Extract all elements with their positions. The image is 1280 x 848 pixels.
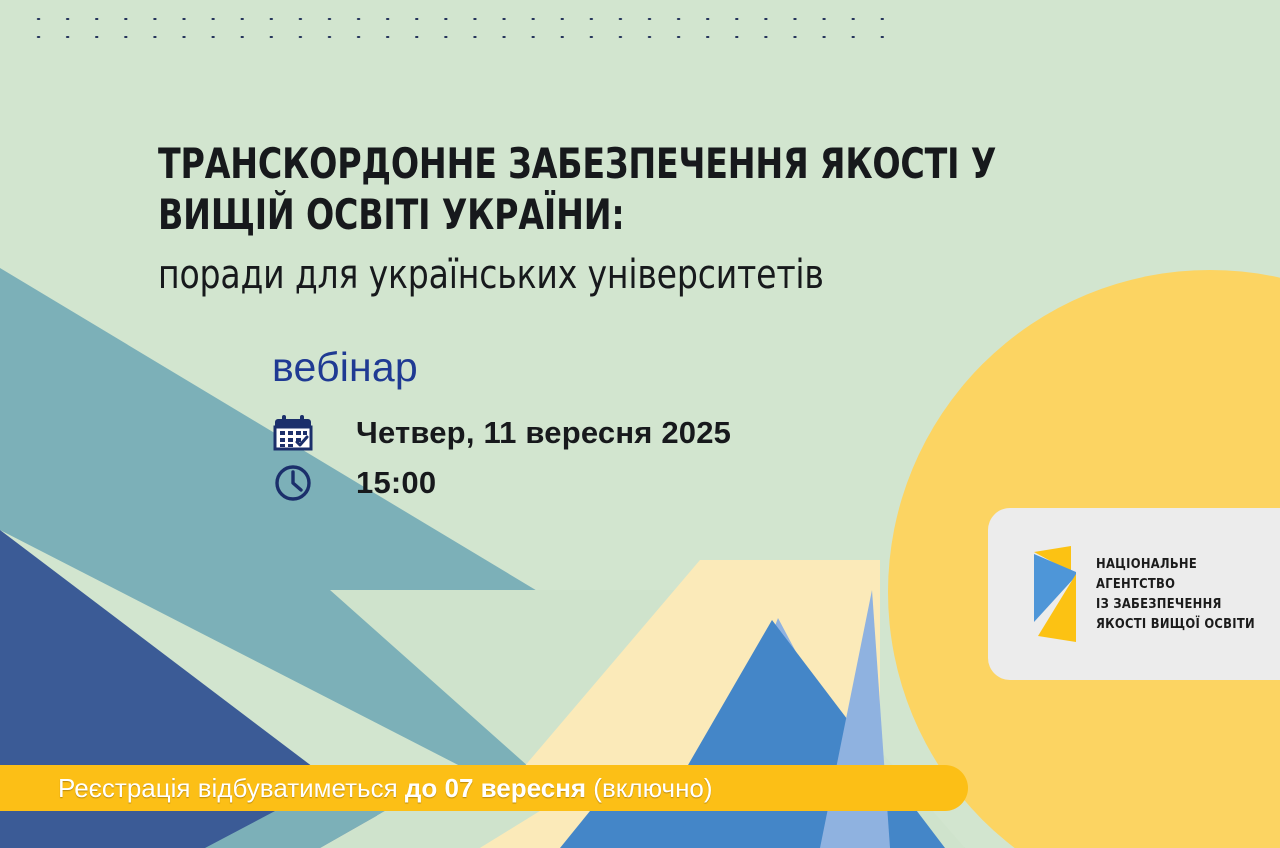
calendar-icon [272, 410, 318, 456]
registration-prefix: Реєстрація відбуватиметься [58, 773, 405, 803]
event-date: Четвер, 11 вересня 2025 [356, 415, 731, 451]
title-line-1: ТРАНСКОРДОННЕ ЗАБЕЗПЕЧЕННЯ ЯКОСТІ У [158, 138, 932, 189]
agency-logo-line-1: НАЦІОНАЛЬНЕ [1096, 554, 1255, 574]
clock-icon [272, 460, 318, 506]
poster-content: ТРАНСКОРДОННЕ ЗАБЕЗПЕЧЕННЯ ЯКОСТІ У ВИЩІ… [0, 0, 1280, 848]
event-kind-label: вебінар [272, 343, 418, 391]
title-line-2: ВИЩІЙ ОСВІТІ УКРАЇНИ: [158, 189, 932, 240]
title-subtitle: поради для українських університетів [158, 240, 968, 304]
event-meta: Четвер, 11 вересня 2025 15:00 [272, 408, 731, 508]
page-title: ТРАНСКОРДОННЕ ЗАБЕЗПЕЧЕННЯ ЯКОСТІ У ВИЩІ… [158, 138, 1038, 304]
registration-ribbon: Реєстрація відбуватиметься до 07 вересня… [0, 765, 968, 811]
webinar-poster: ТРАНСКОРДОННЕ ЗАБЕЗПЕЧЕННЯ ЯКОСТІ У ВИЩІ… [0, 0, 1280, 848]
registration-text: Реєстрація відбуватиметься до 07 вересня… [58, 773, 713, 804]
agency-logo-line-2: АГЕНТСТВО [1096, 574, 1255, 594]
agency-logo-card: НАЦІОНАЛЬНЕ АГЕНТСТВО ІЗ ЗАБЕЗПЕЧЕННЯ ЯК… [988, 508, 1280, 680]
event-time-row: 15:00 [272, 458, 731, 508]
agency-logo-text: НАЦІОНАЛЬНЕ АГЕНТСТВО ІЗ ЗАБЕЗПЕЧЕННЯ ЯК… [1096, 554, 1255, 634]
agency-logo-mark-icon [1024, 542, 1080, 646]
event-date-row: Четвер, 11 вересня 2025 [272, 408, 731, 458]
registration-suffix: (включно) [586, 773, 712, 803]
registration-deadline: до 07 вересня [405, 773, 586, 803]
event-time: 15:00 [356, 465, 436, 501]
agency-logo-line-4: ЯКОСТІ ВИЩОЇ ОСВІТИ [1096, 614, 1255, 634]
agency-logo-line-3: ІЗ ЗАБЕЗПЕЧЕННЯ [1096, 594, 1255, 614]
